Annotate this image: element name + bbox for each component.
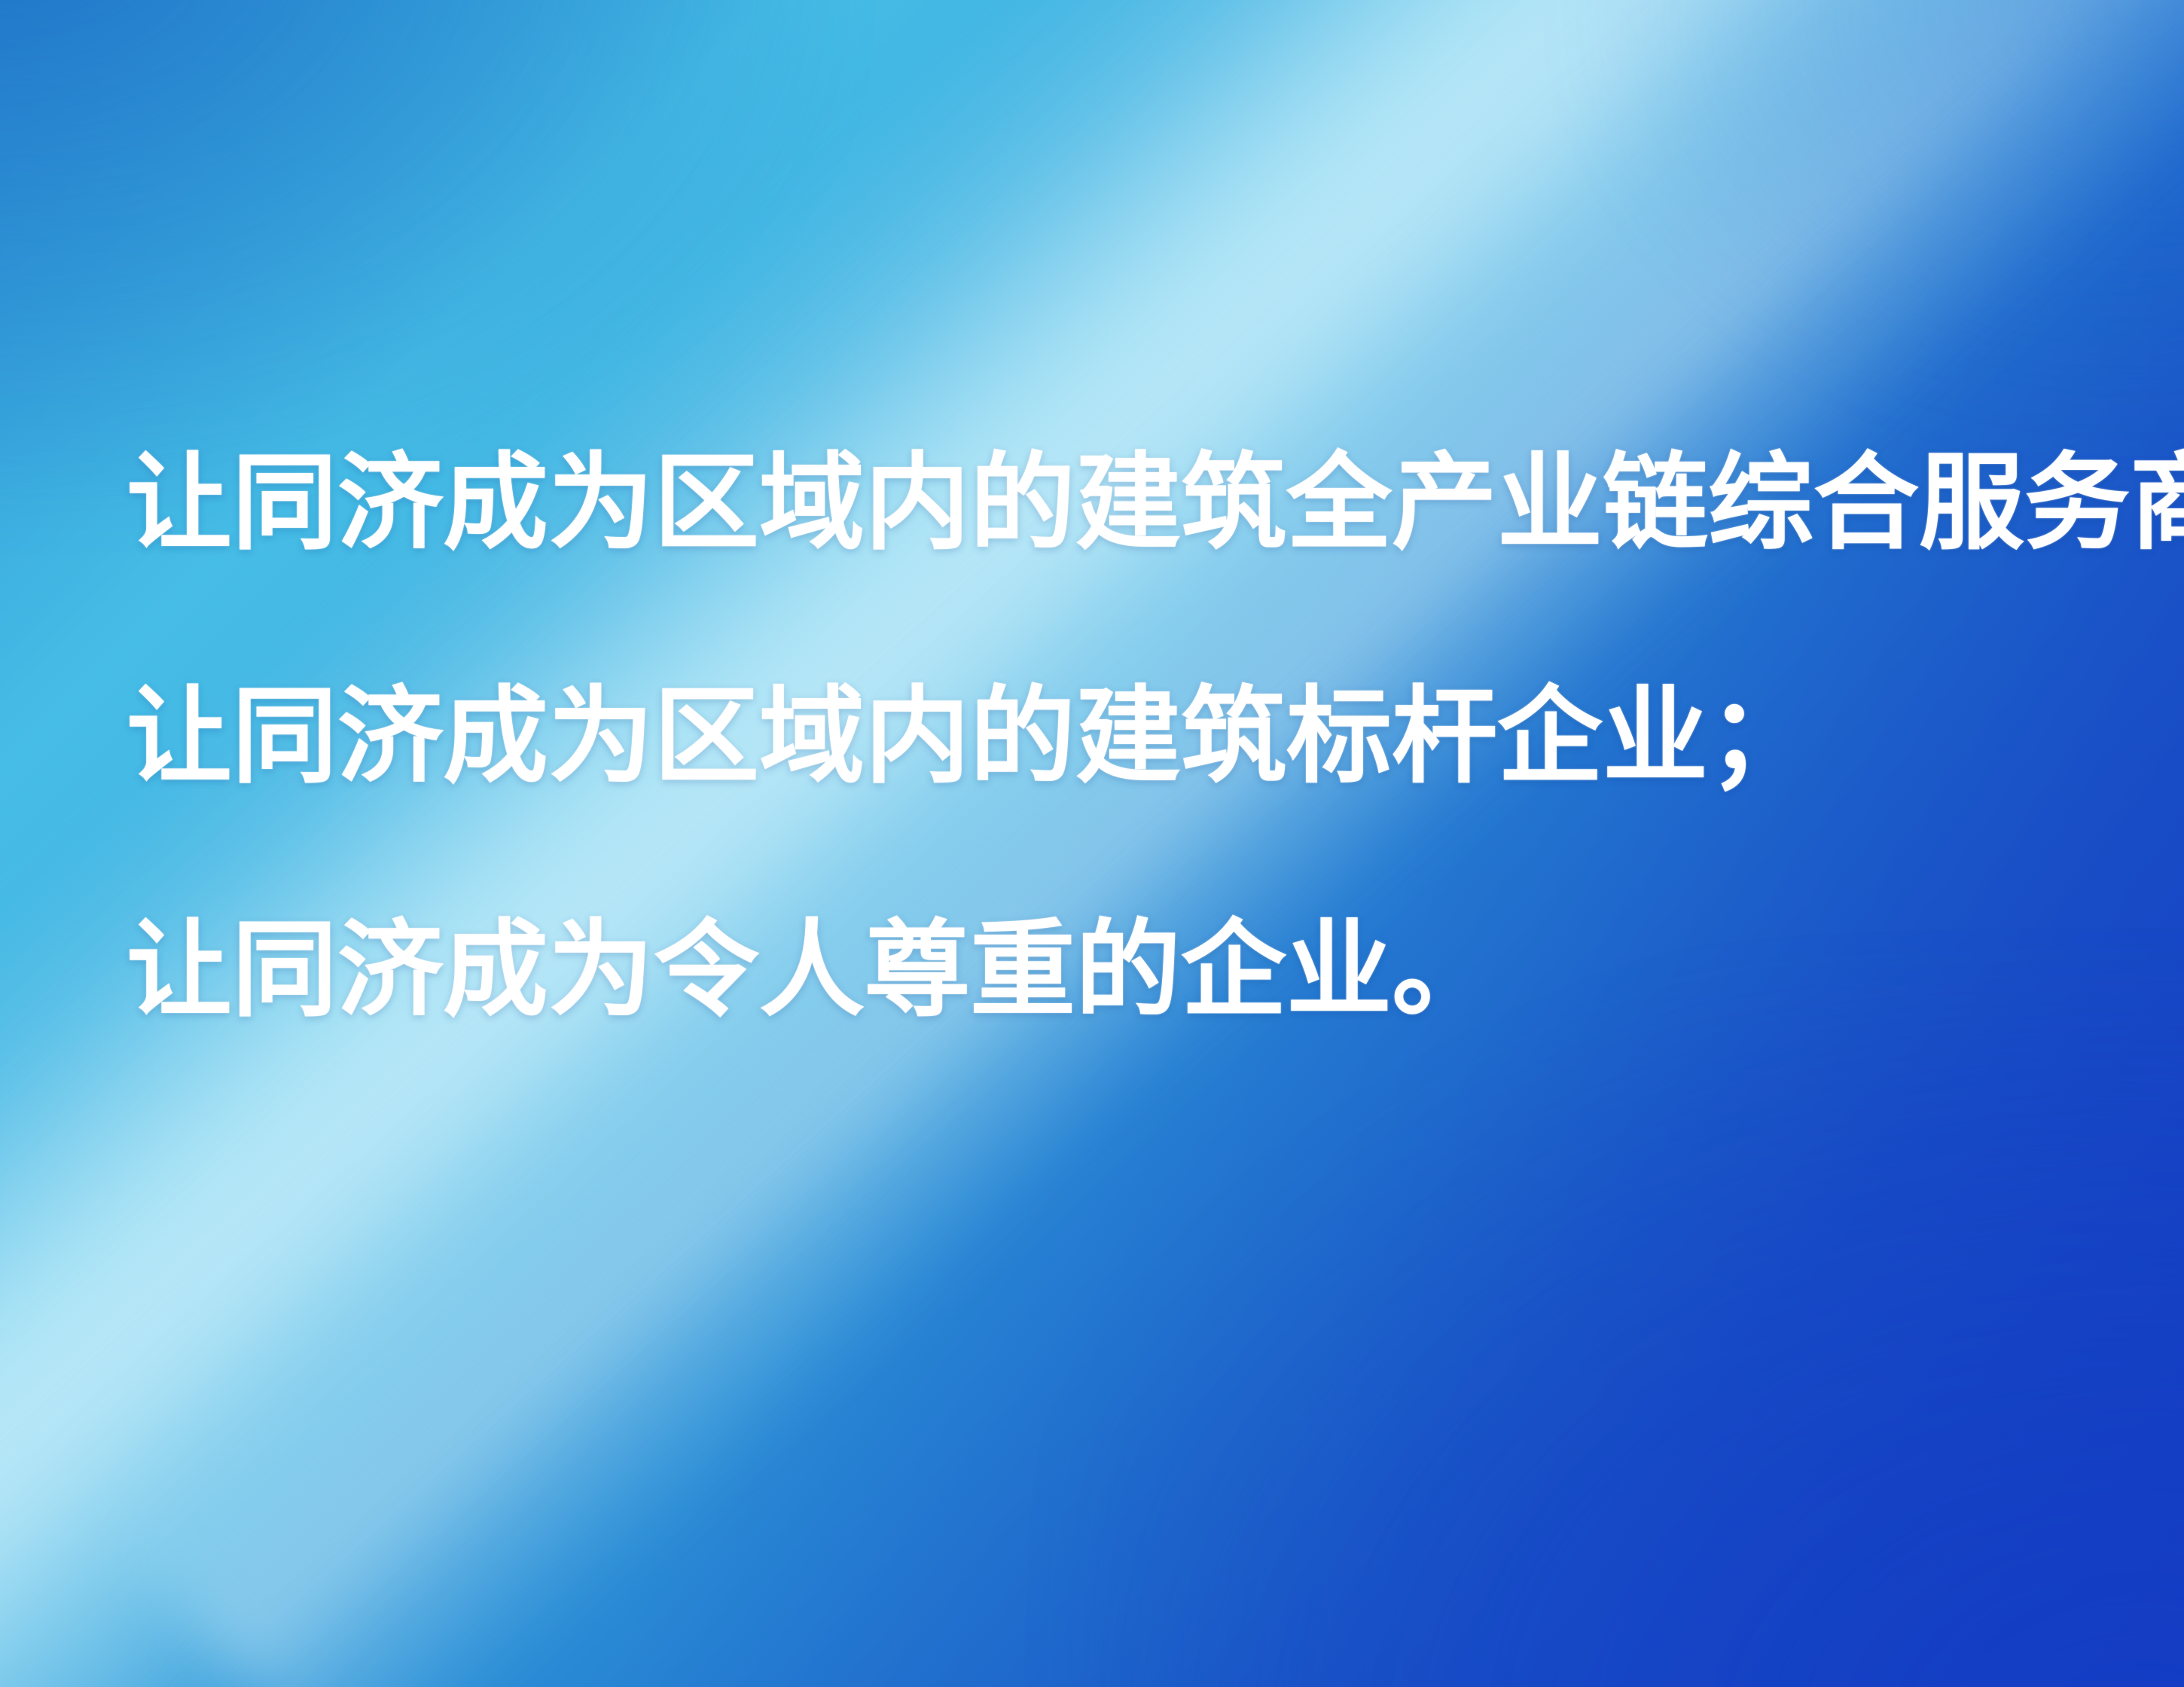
slide-text-line-3: 让同济成为令人尊重的企业。: [127, 919, 2085, 1024]
background-vignette-top-left: [0, 0, 830, 506]
background-vignette-bottom-right: [1092, 996, 2184, 1687]
slide-canvas: 让同济成为区域内的建筑全产业链综合服务商； 让同济成为区域内的建筑标杆企业； 让…: [0, 0, 2184, 1687]
slide-text-line-1: 让同济成为区域内的建筑全产业链综合服务商；: [127, 452, 2085, 557]
slide-text-block: 让同济成为区域内的建筑全产业链综合服务商； 让同济成为区域内的建筑标杆企业； 让…: [127, 452, 2085, 1024]
background-vignette-top-right: [1572, 0, 2184, 438]
slide-text-line-2: 让同济成为区域内的建筑标杆企业；: [127, 685, 2085, 791]
